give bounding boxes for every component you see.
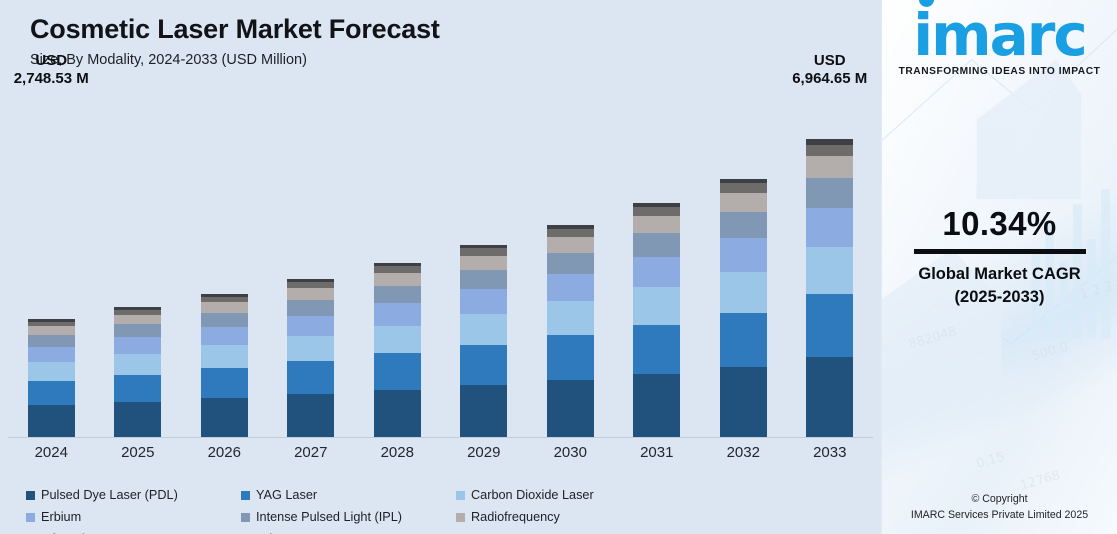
bar-segment[interactable]: [114, 337, 161, 354]
plot-area: USD2,748.53 MUSD6,964.65 M: [0, 96, 881, 438]
bar-segment[interactable]: [374, 286, 421, 303]
logo-dot-icon: [919, 0, 934, 7]
bar-segment[interactable]: [806, 145, 853, 156]
page-title: Cosmetic Laser Market Forecast: [30, 14, 440, 45]
stacked-bar-2029[interactable]: [460, 245, 507, 437]
svg-text:12768: 12768: [1018, 468, 1062, 494]
bar-segment[interactable]: [201, 313, 248, 327]
bar-slot-2027: [268, 96, 355, 437]
bar-slot-2032: [700, 96, 787, 437]
x-axis-tick-2031: 2031: [614, 440, 701, 466]
bar-segment[interactable]: [806, 247, 853, 295]
bar-segment[interactable]: [633, 374, 680, 437]
bar-segment[interactable]: [547, 274, 594, 302]
bar-segment[interactable]: [114, 315, 161, 325]
bar-segment[interactable]: [28, 362, 75, 381]
legend-swatch: [241, 491, 250, 500]
chart-header: Cosmetic Laser Market Forecast Size, By …: [30, 14, 440, 68]
bar-segment[interactable]: [720, 367, 767, 437]
legend-item[interactable]: Intense Pulsed Light (IPL): [241, 506, 456, 528]
chart-panel: Cosmetic Laser Market Forecast Size, By …: [0, 0, 881, 534]
legend-item[interactable]: Others: [241, 528, 456, 534]
bar-segment[interactable]: [201, 368, 248, 398]
legend-label: YAG Laser: [256, 488, 317, 502]
stacked-bar-2026[interactable]: [201, 294, 248, 437]
bar-slot-2030: [527, 96, 614, 437]
bar-segment[interactable]: [547, 301, 594, 335]
bar-segment[interactable]: [114, 402, 161, 437]
x-axis-tick-2028: 2028: [354, 440, 441, 466]
bar-slot-2033: USD6,964.65 M: [787, 96, 874, 437]
legend-label: Carbon Dioxide Laser: [471, 488, 594, 502]
bar-segment[interactable]: [720, 183, 767, 193]
bar-segment[interactable]: [806, 208, 853, 247]
stacked-bar-2030[interactable]: [547, 225, 594, 437]
bar-segment[interactable]: [114, 375, 161, 402]
chart-infographic: Cosmetic Laser Market Forecast Size, By …: [0, 0, 1117, 534]
branding-panel: 0.15 12768 500.0 882048 1 2 3 4 imarc TR…: [881, 0, 1117, 534]
bar-segment[interactable]: [720, 212, 767, 238]
logo-wordmark: imarc: [913, 8, 1085, 63]
copyright-line-1: © Copyright: [882, 492, 1117, 508]
bar-segment[interactable]: [374, 273, 421, 286]
bar-segment[interactable]: [633, 207, 680, 216]
legend-label: Radiofrequency: [471, 510, 560, 524]
svg-text:0.15: 0.15: [975, 449, 1007, 471]
bar-segment[interactable]: [114, 354, 161, 375]
x-axis-tick-2029: 2029: [441, 440, 528, 466]
chart-legend: Pulsed Dye Laser (PDL)YAG LaserCarbon Di…: [26, 484, 866, 534]
bar-slot-2025: [95, 96, 182, 437]
bar-segment[interactable]: [287, 300, 334, 316]
stacked-bar-2024[interactable]: USD2,748.53 M: [28, 319, 75, 437]
bar-segment[interactable]: [460, 256, 507, 270]
x-axis-tick-2025: 2025: [95, 440, 182, 466]
bar-segment[interactable]: [547, 380, 594, 437]
bar-segment[interactable]: [28, 326, 75, 335]
bar-segment[interactable]: [287, 394, 334, 437]
bar-segment[interactable]: [460, 385, 507, 437]
bar-segment[interactable]: [720, 272, 767, 313]
bar-segment[interactable]: [547, 229, 594, 237]
legend-item[interactable]: Erbium: [26, 506, 241, 528]
bar-segment[interactable]: [460, 248, 507, 255]
bar-segment[interactable]: [806, 357, 853, 437]
bar-segment[interactable]: [287, 316, 334, 337]
bar-segment[interactable]: [460, 345, 507, 385]
bar-segment[interactable]: [547, 253, 594, 274]
cagr-label-period: (2025-2033): [882, 286, 1117, 310]
imarc-logo: imarc TRANSFORMING IDEAS INTO IMPACT: [882, 8, 1117, 77]
legend-swatch: [26, 491, 35, 500]
bar-segment[interactable]: [28, 405, 75, 437]
bar-segment[interactable]: [28, 335, 75, 347]
bar-segment[interactable]: [806, 156, 853, 178]
bar-segment[interactable]: [287, 336, 334, 361]
x-axis-tick-2024: 2024: [8, 440, 95, 466]
bar-segment[interactable]: [287, 288, 334, 300]
svg-text:500.0: 500.0: [1030, 340, 1070, 365]
bar-slot-2024: USD2,748.53 M: [8, 96, 95, 437]
x-axis-tick-2026: 2026: [181, 440, 268, 466]
bar-group: USD2,748.53 MUSD6,964.65 M: [8, 96, 873, 437]
bar-segment[interactable]: [633, 287, 680, 324]
bar-segment[interactable]: [460, 270, 507, 289]
x-axis-tick-2032: 2032: [700, 440, 787, 466]
bar-segment[interactable]: [547, 237, 594, 253]
bar-segment[interactable]: [374, 303, 421, 326]
bar-segment[interactable]: [374, 390, 421, 437]
stacked-bar-2033[interactable]: USD6,964.65 M: [806, 139, 853, 437]
copyright-block: © Copyright IMARC Services Private Limit…: [882, 492, 1117, 524]
x-axis-tick-2033: 2033: [787, 440, 874, 466]
bar-slot-2029: [441, 96, 528, 437]
bar-value-label: USD2,748.53 M: [14, 52, 89, 90]
legend-swatch: [241, 513, 250, 522]
cagr-divider: [914, 249, 1086, 254]
bar-segment[interactable]: [720, 193, 767, 212]
stacked-bar-2027[interactable]: [287, 279, 334, 437]
bar-segment[interactable]: [374, 326, 421, 354]
bar-slot-2026: [181, 96, 268, 437]
legend-swatch: [456, 491, 465, 500]
bar-segment[interactable]: [633, 257, 680, 287]
legend-label: Pulsed Dye Laser (PDL): [41, 488, 178, 502]
stacked-bar-2025[interactable]: [114, 307, 161, 437]
bar-segment[interactable]: [806, 294, 853, 356]
bar-segment[interactable]: [720, 238, 767, 272]
bar-segment[interactable]: [547, 335, 594, 379]
bar-slot-2028: [354, 96, 441, 437]
bar-segment[interactable]: [633, 325, 680, 374]
legend-swatch: [26, 513, 35, 522]
bar-segment[interactable]: [633, 233, 680, 256]
legend-label: Erbium: [41, 510, 81, 524]
cagr-value: 10.34%: [882, 206, 1117, 242]
bar-segment[interactable]: [460, 289, 507, 314]
cagr-label-primary: Global Market CAGR: [882, 263, 1117, 285]
legend-item[interactable]: Infrared: [26, 528, 241, 534]
cagr-block: 10.34% Global Market CAGR (2025-2033): [882, 206, 1117, 309]
legend-item[interactable]: Carbon Dioxide Laser: [456, 484, 671, 506]
legend-item[interactable]: YAG Laser: [241, 484, 456, 506]
bar-segment[interactable]: [201, 345, 248, 368]
bar-segment[interactable]: [287, 361, 334, 394]
bar-segment[interactable]: [201, 398, 248, 437]
bar-segment[interactable]: [460, 314, 507, 345]
legend-swatch: [456, 513, 465, 522]
bar-segment[interactable]: [374, 266, 421, 273]
bar-segment[interactable]: [806, 178, 853, 208]
copyright-line-2: IMARC Services Private Limited 2025: [882, 508, 1117, 524]
bar-segment[interactable]: [28, 381, 75, 406]
bar-segment[interactable]: [114, 324, 161, 337]
page-subtitle: Size, By Modality, 2024-2033 (USD Millio…: [30, 52, 440, 68]
bar-value-label: USD6,964.65 M: [792, 52, 867, 90]
legend-item[interactable]: Radiofrequency: [456, 506, 671, 528]
bar-segment[interactable]: [374, 353, 421, 390]
stacked-bar-2031[interactable]: [633, 203, 680, 437]
stacked-bar-2028[interactable]: [374, 263, 421, 437]
x-axis-line: [8, 437, 873, 438]
bar-segment[interactable]: [28, 347, 75, 362]
legend-label: Intense Pulsed Light (IPL): [256, 510, 402, 524]
x-axis-tick-2027: 2027: [268, 440, 355, 466]
x-axis-tick-2030: 2030: [527, 440, 614, 466]
bar-segment[interactable]: [201, 327, 248, 346]
bar-segment[interactable]: [201, 302, 248, 313]
legend-item[interactable]: Pulsed Dye Laser (PDL): [26, 484, 241, 506]
bar-segment[interactable]: [720, 313, 767, 367]
bar-segment[interactable]: [633, 216, 680, 233]
x-axis-labels: 2024202520262027202820292030203120322033: [8, 440, 873, 466]
stacked-bar-2032[interactable]: [720, 179, 767, 437]
bar-slot-2031: [614, 96, 701, 437]
